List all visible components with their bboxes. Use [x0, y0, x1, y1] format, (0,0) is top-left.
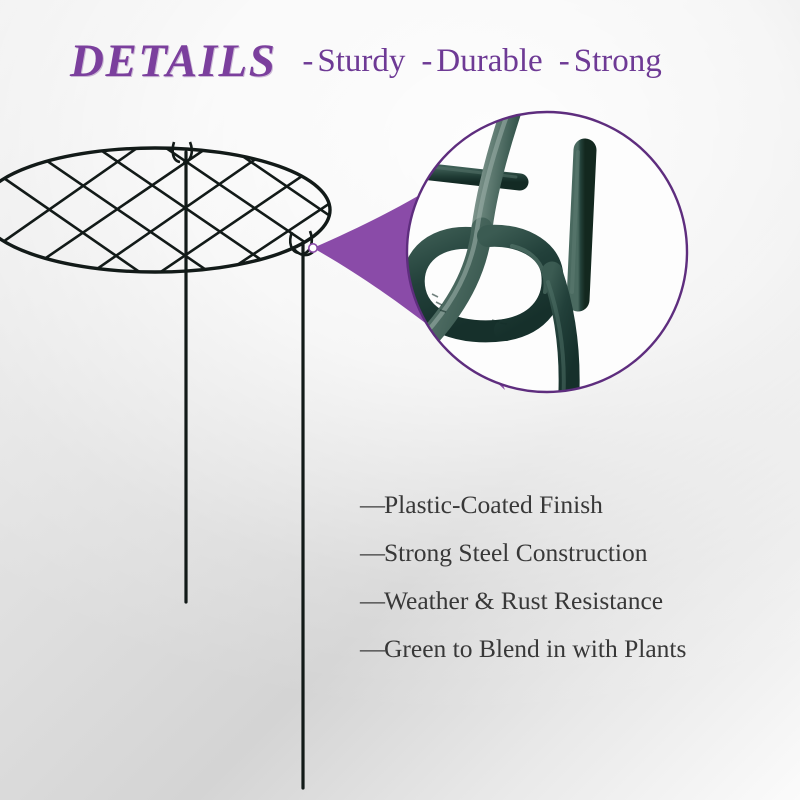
feature-item-green-blend-with-plants: — Green to Blend in with Plants [360, 636, 780, 684]
tagline-label: Sturdy [317, 43, 405, 79]
feature-dash-icon: — [360, 541, 384, 566]
feature-label: Plastic-Coated Finish [384, 492, 603, 518]
tagline-dash: - [302, 43, 313, 79]
feature-dash-icon: — [360, 637, 384, 662]
feature-item-strong-steel-construction: — Strong Steel Construction [360, 540, 780, 588]
tagline-item-sturdy: -Sturdy [302, 45, 405, 78]
feature-label: Green to Blend in with Plants [384, 636, 686, 662]
feature-dash-icon: — [360, 493, 384, 518]
page-title: DETAILS [70, 38, 276, 85]
tagline-dash: - [559, 43, 570, 79]
tagline-dash: - [421, 43, 432, 79]
tagline-item-strong: -Strong [559, 45, 662, 78]
feature-item-plastic-coated-finish: — Plastic-Coated Finish [360, 492, 780, 540]
feature-label: Weather & Rust Resistance [384, 588, 663, 614]
header-band: DETAILS -Sturdy -Durable -Strong [0, 28, 800, 94]
tagline-label: Durable [436, 43, 542, 79]
feature-list: — Plastic-Coated Finish — Strong Steel C… [360, 492, 780, 684]
feature-item-weather-rust-resistance: — Weather & Rust Resistance [360, 588, 780, 636]
product-detail-infographic: DETAILS -Sturdy -Durable -Strong [0, 0, 800, 800]
tagline: -Sturdy -Durable -Strong [302, 45, 661, 78]
feature-label: Strong Steel Construction [384, 540, 648, 566]
tagline-item-durable: -Durable [421, 45, 542, 78]
feature-dash-icon: — [360, 589, 384, 614]
tagline-label: Strong [574, 43, 662, 79]
